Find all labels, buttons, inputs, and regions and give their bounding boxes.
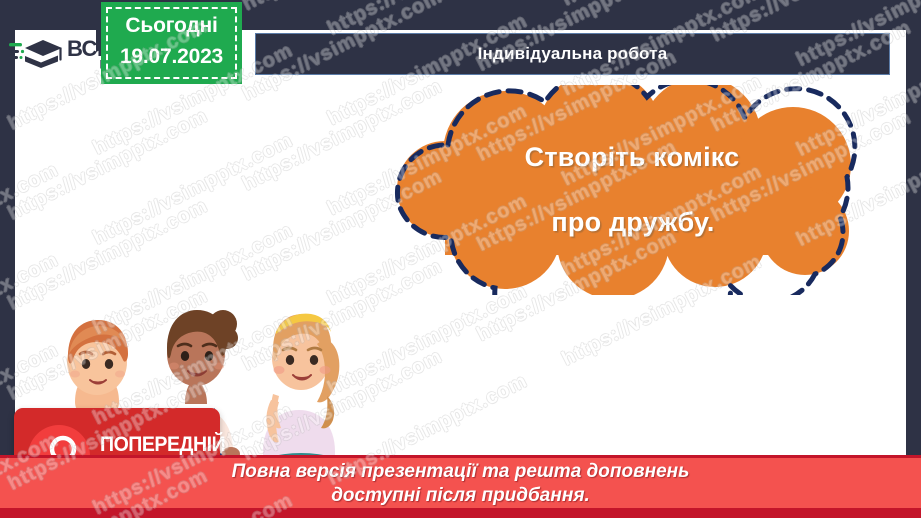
preview-badge-line-1: ПОПЕРЕДНІЙ xyxy=(100,434,225,456)
bottom-banner-text: Повна версія презентації та решта доповн… xyxy=(232,460,690,508)
presentation-slide: ВСІМ pptx Сьогодні 19.07.2023 Індивідуал… xyxy=(0,0,921,518)
speech-cloud: Створіть комікс про дружбу. xyxy=(385,85,885,295)
header-bar: Індивідуальна робота xyxy=(255,33,890,75)
bottom-banner-line-2: доступні після придбання. xyxy=(232,484,690,508)
date-badge-label: Сьогодні xyxy=(101,14,242,38)
page-title: Індивідуальна робота xyxy=(478,44,668,64)
date-badge-date: 19.07.2023 xyxy=(101,45,242,69)
bottom-banner-line-1: Повна версія презентації та решта доповн… xyxy=(232,460,690,484)
bottom-banner: Повна версія презентації та решта доповн… xyxy=(0,455,921,518)
date-badge: Сьогодні 19.07.2023 xyxy=(101,2,242,84)
graduation-cap-icon xyxy=(8,34,64,74)
